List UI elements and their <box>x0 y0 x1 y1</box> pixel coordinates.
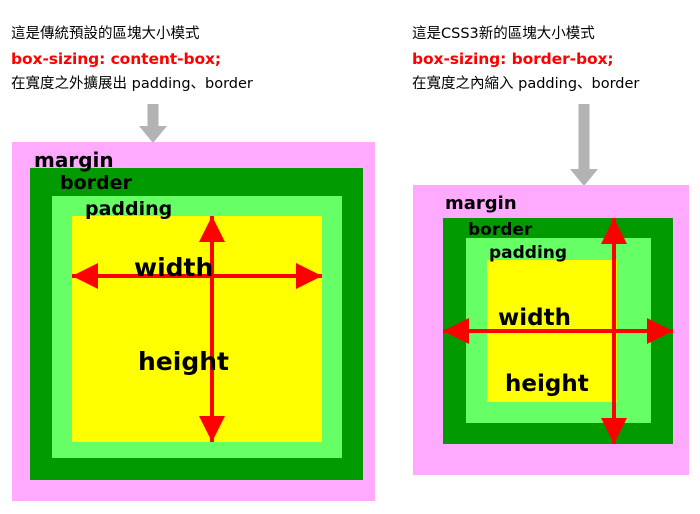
arrow-head-down <box>199 416 225 442</box>
caption-left-line-1: 這是傳統預設的區塊大小模式 <box>11 22 253 47</box>
height-measure-arrow <box>199 216 225 442</box>
down-arrow-icon-left <box>139 104 167 143</box>
content-layer <box>72 216 322 442</box>
arrow-head-up <box>199 216 225 242</box>
height-measure-arrow <box>601 218 627 444</box>
caption-left-code: box-sizing: content-box; <box>11 47 253 72</box>
box-model-content-box: margin border padding width height <box>12 142 375 501</box>
box-model-border-box: margin border padding width height <box>413 185 689 475</box>
arrow-head <box>570 169 598 186</box>
width-label: width <box>498 307 571 330</box>
down-arrow-icon-right <box>570 104 598 186</box>
caption-left-line-3: 在寬度之外擴展出 padding、border <box>11 72 253 97</box>
arrow-head <box>139 126 167 143</box>
arrow-head-left <box>72 263 98 289</box>
border-label: border <box>468 222 532 239</box>
arrow-shaft <box>210 216 214 442</box>
caption-right-line-1: 這是CSS3新的區塊大小模式 <box>412 22 639 47</box>
caption-border-box: 這是CSS3新的區塊大小模式 box-sizing: border-box; 在… <box>412 22 639 97</box>
margin-label: margin <box>34 150 114 170</box>
arrow-head-left <box>443 318 469 344</box>
arrow-head-right <box>296 263 322 289</box>
padding-label: padding <box>489 245 567 262</box>
padding-label: padding <box>85 200 172 219</box>
arrow-shaft <box>612 218 616 444</box>
height-label: height <box>138 349 229 374</box>
caption-right-code: box-sizing: border-box; <box>412 47 639 72</box>
margin-label: margin <box>445 195 517 213</box>
arrow-head-down <box>601 418 627 444</box>
arrow-shaft <box>148 104 159 127</box>
border-label: border <box>60 174 132 193</box>
arrow-head-right <box>647 318 673 344</box>
caption-right-line-3: 在寬度之內縮入 padding、border <box>412 72 639 97</box>
width-label: width <box>134 255 213 280</box>
caption-content-box: 這是傳統預設的區塊大小模式 box-sizing: content-box; 在… <box>11 22 253 97</box>
box-sizing-comparison-diagram: 這是傳統預設的區塊大小模式 box-sizing: content-box; 在… <box>0 0 700 514</box>
height-label: height <box>505 373 589 396</box>
arrow-shaft <box>579 104 590 170</box>
arrow-head-up <box>601 218 627 244</box>
